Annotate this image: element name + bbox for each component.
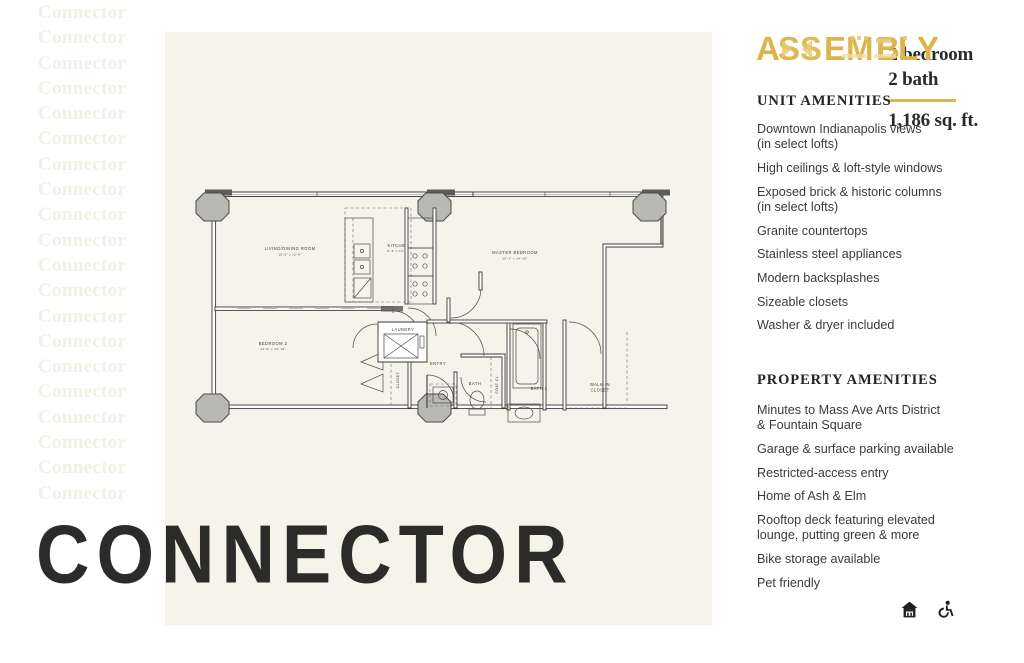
svg-text:M: M: [846, 30, 875, 67]
svg-text:Y: Y: [917, 30, 940, 67]
unit-amenities-heading: UNIT AMENITIES: [757, 93, 891, 110]
watermark-text: Connector: [0, 354, 170, 379]
watermark-text: Connector: [0, 126, 170, 151]
watermark-text: Connector: [0, 455, 170, 480]
unit-amenity-item: Stainless steel appliances: [757, 247, 1019, 262]
compliance-icons: [900, 600, 956, 619]
watermark-text: Connector: [0, 25, 170, 50]
watermark-text: Connector: [0, 177, 170, 202]
svg-text:15'-3" x 14'-10": 15'-3" x 14'-10": [502, 257, 528, 261]
accessibility-icon: [937, 600, 956, 619]
page-title: CONNECTOR: [36, 513, 575, 596]
equal-housing-icon: [900, 600, 919, 619]
svg-text:WALK-IN: WALK-IN: [590, 382, 610, 387]
watermark-text: Connector: [0, 51, 170, 76]
property-amenity-item: Home of Ash & Elm: [757, 489, 1019, 504]
property-amenity-item: Garage & surface parking available: [757, 442, 1019, 457]
property-amenities-list: Minutes to Mass Ave Arts District & Foun…: [757, 403, 1019, 599]
watermark-text: Connector: [0, 0, 170, 25]
svg-text:ENTRY: ENTRY: [430, 361, 446, 366]
property-amenity-item: Restricted-access entry: [757, 466, 1019, 481]
svg-text:16'-6" x 12'-6": 16'-6" x 12'-6": [278, 253, 302, 257]
watermark-text: Connector: [0, 152, 170, 177]
watermark-text: Connector: [0, 101, 170, 126]
unit-amenity-item: Exposed brick & historic columns (in sel…: [757, 185, 1019, 215]
svg-text:LAUNDRY: LAUNDRY: [392, 327, 415, 332]
watermark-text: Connector: [0, 430, 170, 455]
assembly-logo: A S S E M B L Y: [756, 30, 968, 70]
svg-text:BATH 2: BATH 2: [531, 386, 548, 391]
svg-text:CLOSET: CLOSET: [396, 372, 400, 389]
unit-amenities-list: Downtown Indianapolis views (in select l…: [757, 122, 1019, 342]
svg-text:CLOSET: CLOSET: [590, 388, 609, 393]
unit-amenity-item: High ceilings & loft-style windows: [757, 161, 1019, 176]
property-amenity-item: Bike storage available: [757, 552, 1019, 567]
svg-text:BATH: BATH: [469, 381, 481, 386]
svg-text:LIVING/DINING ROOM: LIVING/DINING ROOM: [265, 246, 316, 251]
svg-text:COAT CL.: COAT CL.: [495, 374, 499, 393]
svg-text:13'-6" x 10'-10": 13'-6" x 10'-10": [260, 347, 286, 351]
watermark-text: Connector: [0, 228, 170, 253]
watermark-text: Connector: [0, 304, 170, 329]
unit-amenity-item: Downtown Indianapolis views (in select l…: [757, 122, 1019, 152]
watermark-text: Connector: [0, 405, 170, 430]
watermark-text: Connector: [0, 379, 170, 404]
watermark-text: Connector: [0, 202, 170, 227]
property-amenities-heading: PROPERTY AMENITIES: [757, 372, 938, 389]
sidebar: A S S E M B L Y UNIT AMENITIES Downtown …: [752, 0, 1024, 663]
watermark-text: Connector: [0, 481, 170, 506]
watermark-text: Connector: [0, 76, 170, 101]
svg-text:MASTER BEDROOM: MASTER BEDROOM: [492, 250, 538, 255]
property-amenity-item: Rooftop deck featuring elevated lounge, …: [757, 513, 1019, 543]
watermark-text: Connector: [0, 329, 170, 354]
property-amenity-item: Pet friendly: [757, 576, 1019, 591]
unit-amenity-item: Granite countertops: [757, 224, 1019, 239]
svg-text:BEDROOM 2: BEDROOM 2: [259, 341, 288, 346]
unit-amenity-item: Washer & dryer included: [757, 318, 1019, 333]
unit-amenity-item: Modern backsplashes: [757, 271, 1019, 286]
unit-amenity-item: Sizeable closets: [757, 295, 1019, 310]
watermark-text: Connector: [0, 278, 170, 303]
svg-text:L: L: [898, 30, 919, 67]
svg-text:E: E: [824, 30, 847, 67]
watermark-text: Connector: [0, 253, 170, 278]
property-amenity-item: Minutes to Mass Ave Arts District & Foun…: [757, 403, 1019, 433]
